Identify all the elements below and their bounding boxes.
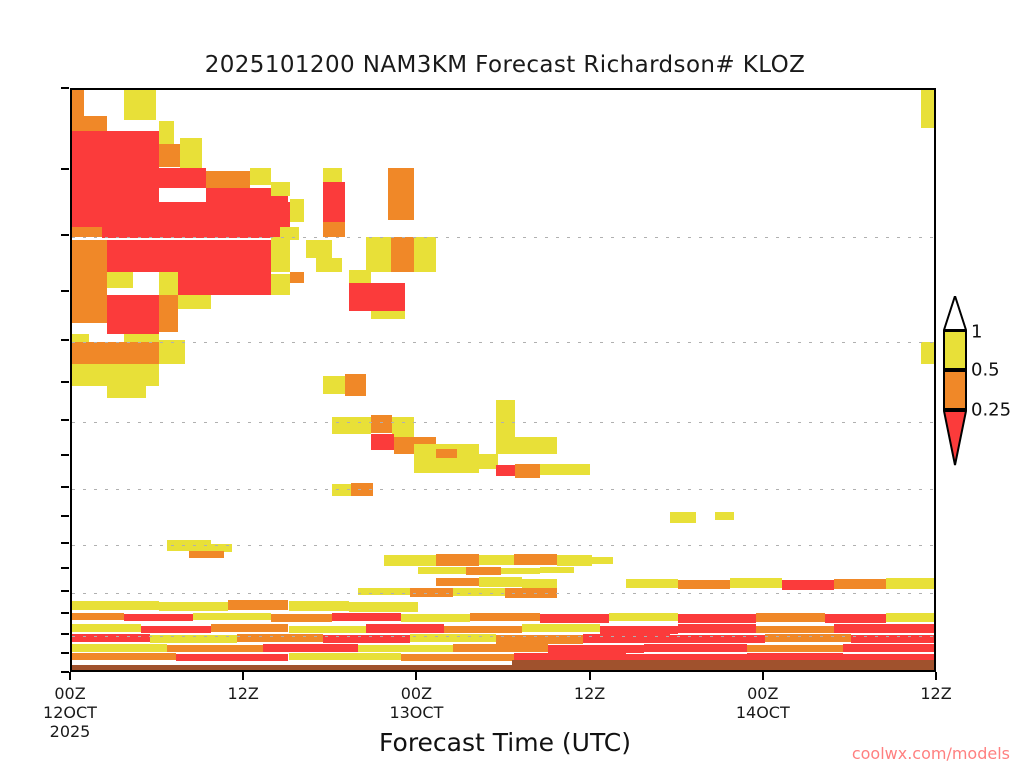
watermark: coolwx.com/models <box>852 744 1010 763</box>
x-tick-mark <box>415 672 417 680</box>
x-tick-mark <box>589 672 591 680</box>
colorbar-label-05: 0.5 <box>971 360 1000 381</box>
colorbar-segment-orange <box>943 370 967 410</box>
colorbar-top-arrow <box>943 296 967 331</box>
colorbar-bottom-arrow <box>943 410 967 466</box>
x-tick-label: 00Z14OCT <box>736 684 790 722</box>
x-tick-label: 12Z <box>574 684 605 703</box>
chart-canvas: 2025101200 NAM3KM Forecast Richardson# K… <box>0 0 1024 768</box>
colorbar-label-025: 0.25 <box>971 400 1011 421</box>
x-tick-label: 12Z <box>228 684 259 703</box>
x-tick-label: 12Z <box>920 684 951 703</box>
x-tick-mark <box>69 672 71 680</box>
x-tick-label: 00Z13OCT <box>389 684 443 722</box>
x-axis: 00Z12OCT202512Z00Z13OCT12Z00Z14OCT12Z <box>0 0 1024 768</box>
colorbar-label-1: 1 <box>971 322 982 343</box>
colorbar-segment-yellow <box>943 330 967 370</box>
x-tick-mark <box>242 672 244 680</box>
x-tick-mark <box>762 672 764 680</box>
x-tick-mark <box>935 672 937 680</box>
